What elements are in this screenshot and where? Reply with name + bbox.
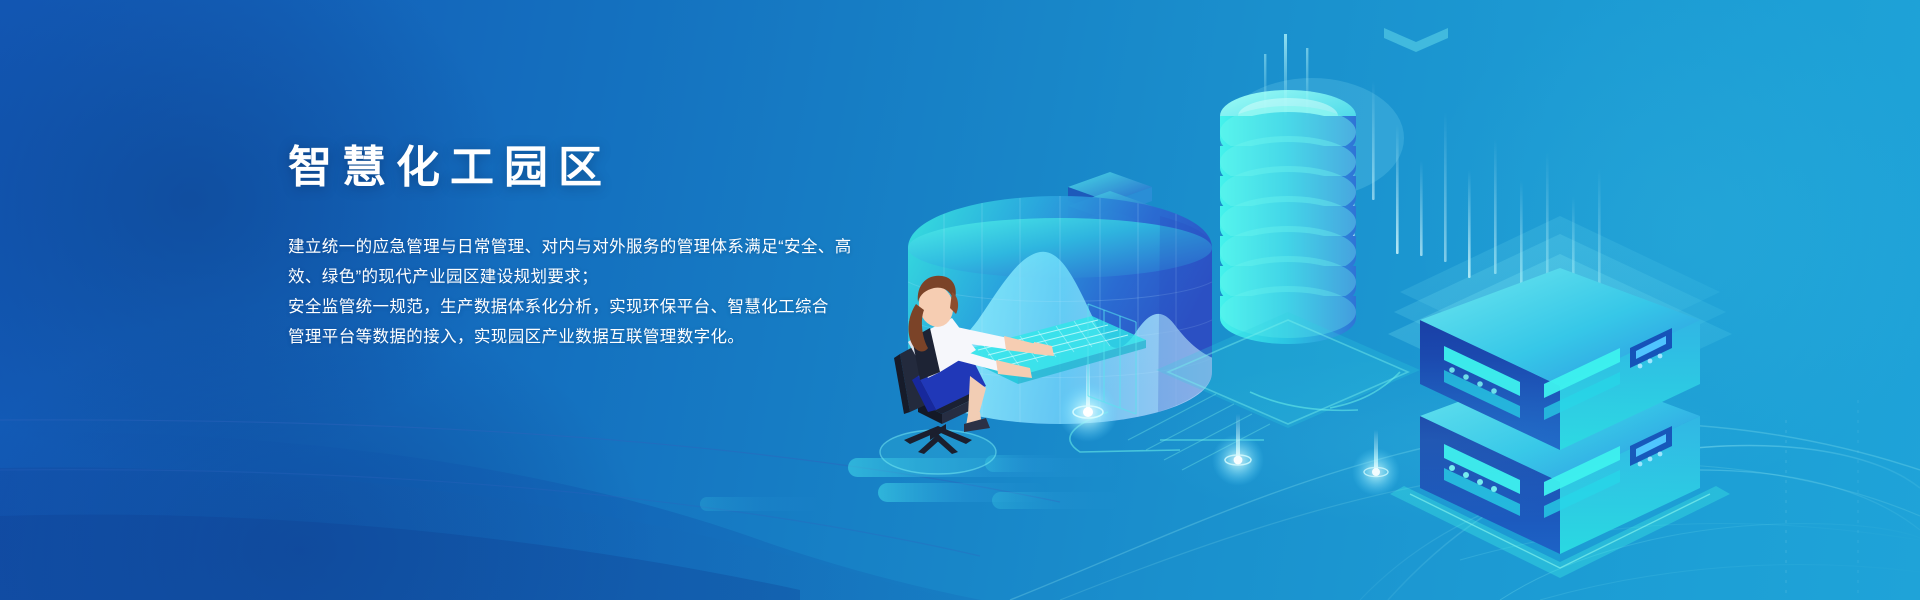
description-line-2: 效、绿色”的现代产业园区建设规划要求； xyxy=(288,262,928,292)
hero-text-block: 智慧化工园区 建立统一的应急管理与日常管理、对内与对外服务的管理体系满足“安全、… xyxy=(288,146,928,352)
background-glow-right xyxy=(1310,0,1920,580)
person-figure xyxy=(908,276,1054,432)
glowing-network-nodes xyxy=(1058,358,1400,496)
description-line-3: 安全监管统一规范，生产数据体系化分析，实现环保平台、智慧化工综合 xyxy=(288,292,928,322)
chart-dome-panel xyxy=(904,196,1218,430)
description-line-4: 管理平台等数据的接入，实现园区产业数据互联管理数字化。 xyxy=(288,322,928,352)
page-title: 智慧化工园区 xyxy=(288,146,928,190)
office-chair-icon xyxy=(894,342,980,454)
status-indicator-panel xyxy=(1630,426,1672,466)
server-rack-stack xyxy=(1388,216,1732,578)
foreground-haze xyxy=(980,320,1880,560)
network-connection-paths xyxy=(1070,372,1400,452)
hero-illustration xyxy=(860,20,1920,490)
falling-data-streams xyxy=(1326,28,1601,302)
status-indicator-panel-upper xyxy=(1630,328,1672,368)
hero-banner: 智慧化工园区 建立统一的应急管理与日常管理、对内与对外服务的管理体系满足“安全、… xyxy=(0,0,1920,600)
network-connection-grid xyxy=(1128,394,1270,470)
floating-layer-cube-icon xyxy=(1068,172,1152,240)
data-cylinder-tower xyxy=(1220,34,1356,344)
holographic-keyboard-icon xyxy=(964,304,1146,414)
hover-plates xyxy=(1388,216,1732,414)
description-line-1: 建立统一的应急管理与日常管理、对内与对外服务的管理体系满足“安全、高 xyxy=(288,232,928,262)
cylinder-base-platform xyxy=(1156,312,1420,428)
